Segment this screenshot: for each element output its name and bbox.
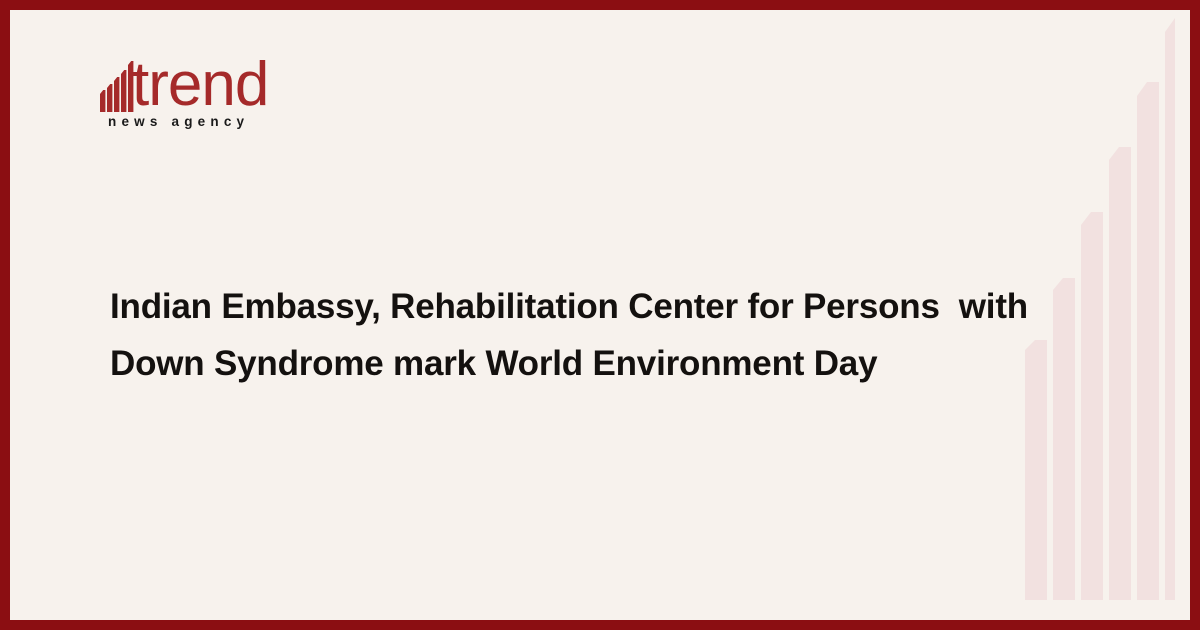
headline-text: Indian Embassy, Rehabilitation Center fo… bbox=[110, 278, 1110, 392]
trend-news-agency-logo[interactable]: trend news agency bbox=[100, 46, 290, 129]
trend-bars-icon bbox=[100, 50, 134, 112]
card-canvas: trend news agency Indian Embassy, Rehabi… bbox=[10, 10, 1190, 620]
logo-wordmark: trend bbox=[132, 54, 268, 116]
logo-mark-row: trend bbox=[100, 46, 290, 112]
share-card: trend news agency Indian Embassy, Rehabi… bbox=[0, 0, 1200, 630]
